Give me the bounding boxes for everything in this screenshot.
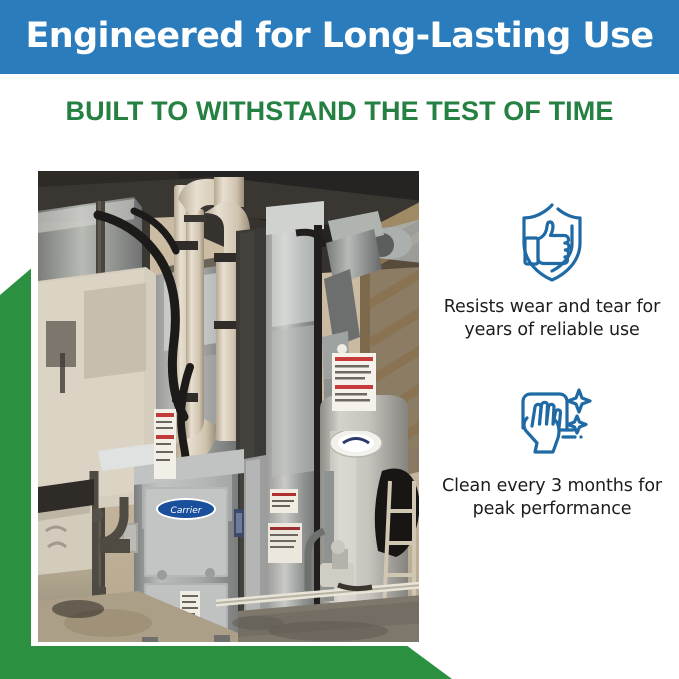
equipment-photo: Carrier: [38, 171, 422, 645]
photo-frame: Carrier: [32, 165, 422, 645]
feature-item-durability: Resists wear and tear for years of relia…: [436, 200, 668, 343]
hand-wiping-sparkle-icon: [436, 379, 668, 465]
feature-text-maintenance: Clean every 3 months for peak performanc…: [436, 475, 668, 522]
header-band: Engineered for Long-Lasting Use: [0, 0, 679, 74]
feature-list: Resists wear and tear for years of relia…: [436, 200, 668, 521]
infographic-page: Engineered for Long-Lasting Use BUILT TO…: [0, 0, 679, 679]
green-accent-bottom-bar: [0, 645, 460, 679]
feature-item-maintenance: Clean every 3 months for peak performanc…: [436, 379, 668, 522]
svg-text:Carrier: Carrier: [171, 506, 203, 516]
feature-text-durability: Resists wear and tear for years of relia…: [436, 296, 668, 343]
page-title: Engineered for Long-Lasting Use: [25, 19, 653, 54]
shield-thumbs-up-icon: [436, 200, 668, 286]
subtitle: BUILT TO WITHSTAND THE TEST OF TIME: [0, 96, 679, 127]
